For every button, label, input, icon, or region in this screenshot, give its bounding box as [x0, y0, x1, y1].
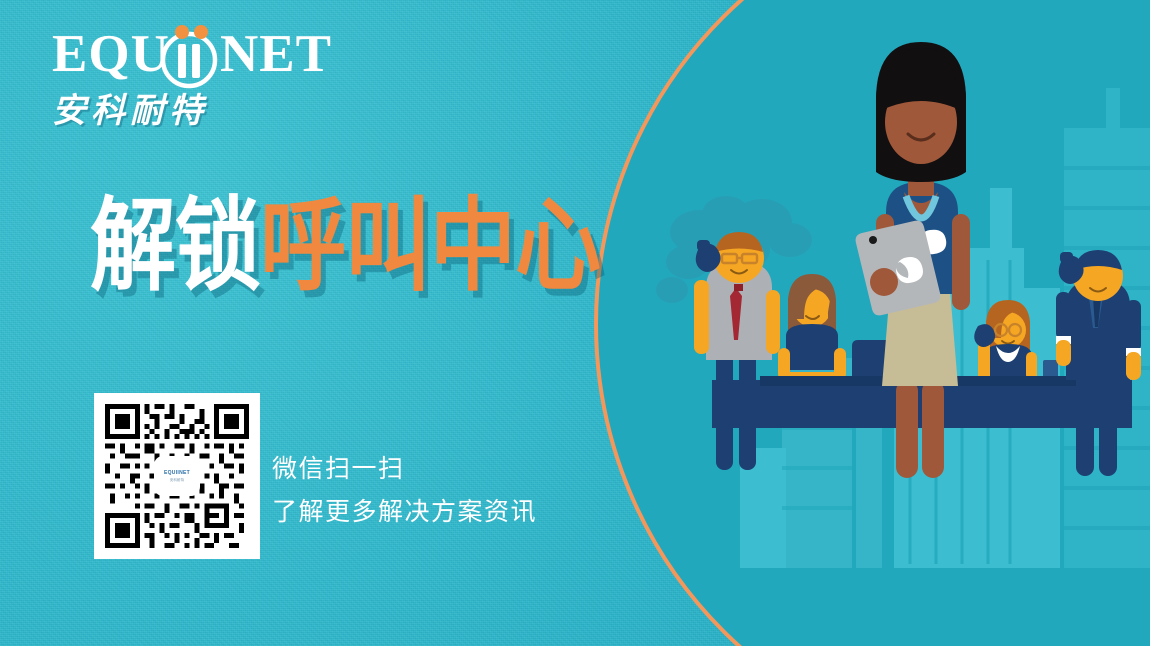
- desktop-monitor: [852, 340, 920, 393]
- logo-wordmark-head: EQU: [52, 28, 170, 81]
- scan-line-1: 微信扫一扫: [272, 448, 537, 491]
- brand-logo: EQU NET 安科耐特: [52, 28, 352, 138]
- qr-center-logo: EQUIINET 安科耐特: [154, 456, 200, 496]
- circle-background: [594, 0, 1150, 646]
- headline-white-part: 解锁: [90, 188, 260, 306]
- tablet-device: [856, 221, 941, 316]
- scan-line-2: 了解更多解决方案资讯: [272, 491, 537, 534]
- reception-desk: [712, 376, 1132, 428]
- headline-orange-part: 呼叫中心: [260, 188, 600, 306]
- qr-badge-title: EQUIINET: [164, 470, 190, 476]
- circle-clip: [594, 0, 1150, 646]
- smiley-circle-ii-icon: [156, 24, 222, 90]
- qr-badge-subtitle: 安科耐特: [170, 477, 184, 482]
- page-title: 解锁呼叫中心: [90, 196, 600, 297]
- illustration-circle: [594, 0, 1150, 646]
- agent-center-woman: [856, 42, 970, 478]
- agent-standing-left: [694, 232, 780, 470]
- agent-seated-glasses: [974, 300, 1058, 388]
- agent-standing-right: [1056, 250, 1141, 476]
- speech-cloud-shapes: [656, 196, 812, 303]
- promotional-banner: EQU NET 安科耐特 解锁呼叫中心: [0, 0, 1150, 646]
- logo-wordmark-tail: NET: [220, 28, 332, 81]
- scan-instructions: 微信扫一扫 了解更多解决方案资讯: [272, 448, 537, 534]
- city-skyline-silhouette: [594, 0, 1150, 646]
- agent-seated-woman: [778, 274, 846, 382]
- qr-code[interactable]: EQUIINET 安科耐特: [94, 393, 260, 559]
- logo-chinese-name: 安科耐特: [52, 94, 352, 128]
